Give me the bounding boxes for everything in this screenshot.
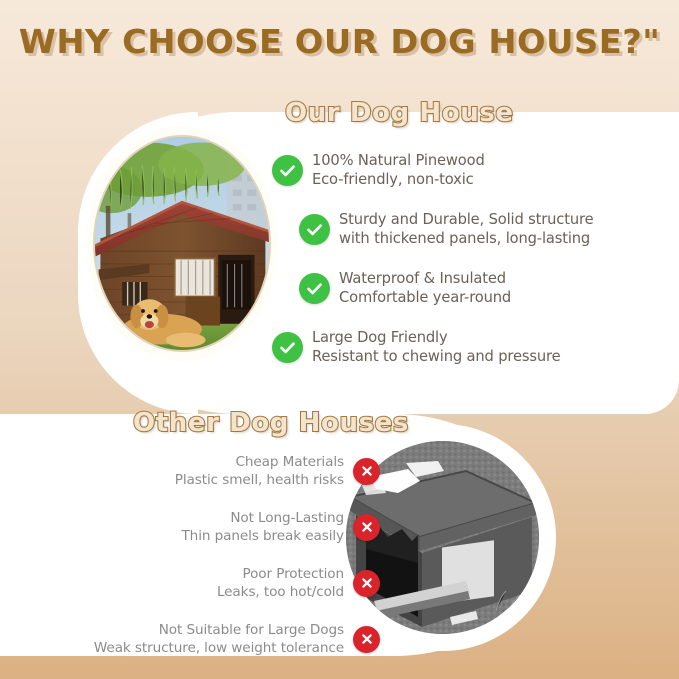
cons-list: Cheap Materials Plastic smell, health ri… — [20, 450, 380, 674]
con-item: Cheap Materials Plastic smell, health ri… — [20, 450, 380, 492]
con-item: Not Suitable for Large Dogs Weak structu… — [20, 618, 380, 660]
pro-item: Waterproof & Insulated Comfortable year-… — [272, 264, 667, 312]
con-line-1: Not Suitable for Large Dogs — [159, 622, 344, 638]
x-icon — [353, 458, 380, 485]
other-dog-houses-heading: Other Dog Houses — [133, 408, 409, 438]
pro-line-1: Large Dog Friendly — [312, 329, 448, 346]
check-icon — [299, 214, 330, 245]
pro-line-2: Resistant to chewing and pressure — [312, 348, 560, 365]
pro-line-1: Waterproof & Insulated — [339, 270, 506, 287]
con-line-1: Cheap Materials — [235, 454, 344, 470]
con-line-2: Thin panels break easily — [181, 528, 344, 544]
pro-item-text: 100% Natural Pinewood Eco-friendly, non-… — [312, 151, 485, 190]
pro-line-2: with thickened panels, long-lasting — [339, 230, 590, 247]
our-dog-house-photo — [86, 126, 278, 361]
pro-line-2: Eco-friendly, non-toxic — [312, 171, 474, 188]
con-item: Poor Protection Leaks, too hot/cold — [20, 562, 380, 604]
pro-item-text: Sturdy and Durable, Solid structure with… — [339, 210, 593, 249]
con-line-1: Poor Protection — [242, 566, 344, 582]
pro-item: 100% Natural Pinewood Eco-friendly, non-… — [272, 146, 667, 194]
con-item: Not Long-Lasting Thin panels break easil… — [20, 506, 380, 548]
page-title: WHY CHOOSE OUR DOG HOUSE?" — [0, 22, 679, 61]
our-dog-house-heading: Our Dog House — [285, 98, 514, 128]
con-item-text: Poor Protection Leaks, too hot/cold — [217, 565, 344, 602]
pro-item-text: Waterproof & Insulated Comfortable year-… — [339, 269, 511, 308]
infographic-canvas: WHY CHOOSE OUR DOG HOUSE?" — [0, 0, 679, 679]
our-dog-house-photo-inner — [95, 137, 269, 350]
wooden-dog-house-illustration — [95, 137, 269, 350]
con-line-2: Leaks, too hot/cold — [217, 584, 344, 600]
pro-item: Sturdy and Durable, Solid structure with… — [272, 205, 667, 253]
pro-item-text: Large Dog Friendly Resistant to chewing … — [312, 328, 560, 367]
con-line-2: Weak structure, low weight tolerance — [94, 640, 344, 656]
con-item-text: Not Long-Lasting Thin panels break easil… — [181, 509, 344, 546]
con-line-2: Plastic smell, health risks — [175, 472, 344, 488]
pro-line-2: Comfortable year-round — [339, 289, 511, 306]
con-item-text: Cheap Materials Plastic smell, health ri… — [175, 453, 344, 490]
pro-item: Large Dog Friendly Resistant to chewing … — [272, 323, 667, 371]
check-icon — [299, 273, 330, 304]
con-item-text: Not Suitable for Large Dogs Weak structu… — [94, 621, 344, 658]
x-icon — [353, 514, 380, 541]
x-icon — [353, 626, 380, 653]
pro-line-1: 100% Natural Pinewood — [312, 152, 485, 169]
x-icon — [353, 570, 380, 597]
pros-list: 100% Natural Pinewood Eco-friendly, non-… — [272, 146, 667, 382]
con-line-1: Not Long-Lasting — [230, 510, 344, 526]
check-icon — [272, 332, 303, 363]
check-icon — [272, 155, 303, 186]
pro-line-1: Sturdy and Durable, Solid structure — [339, 211, 593, 228]
